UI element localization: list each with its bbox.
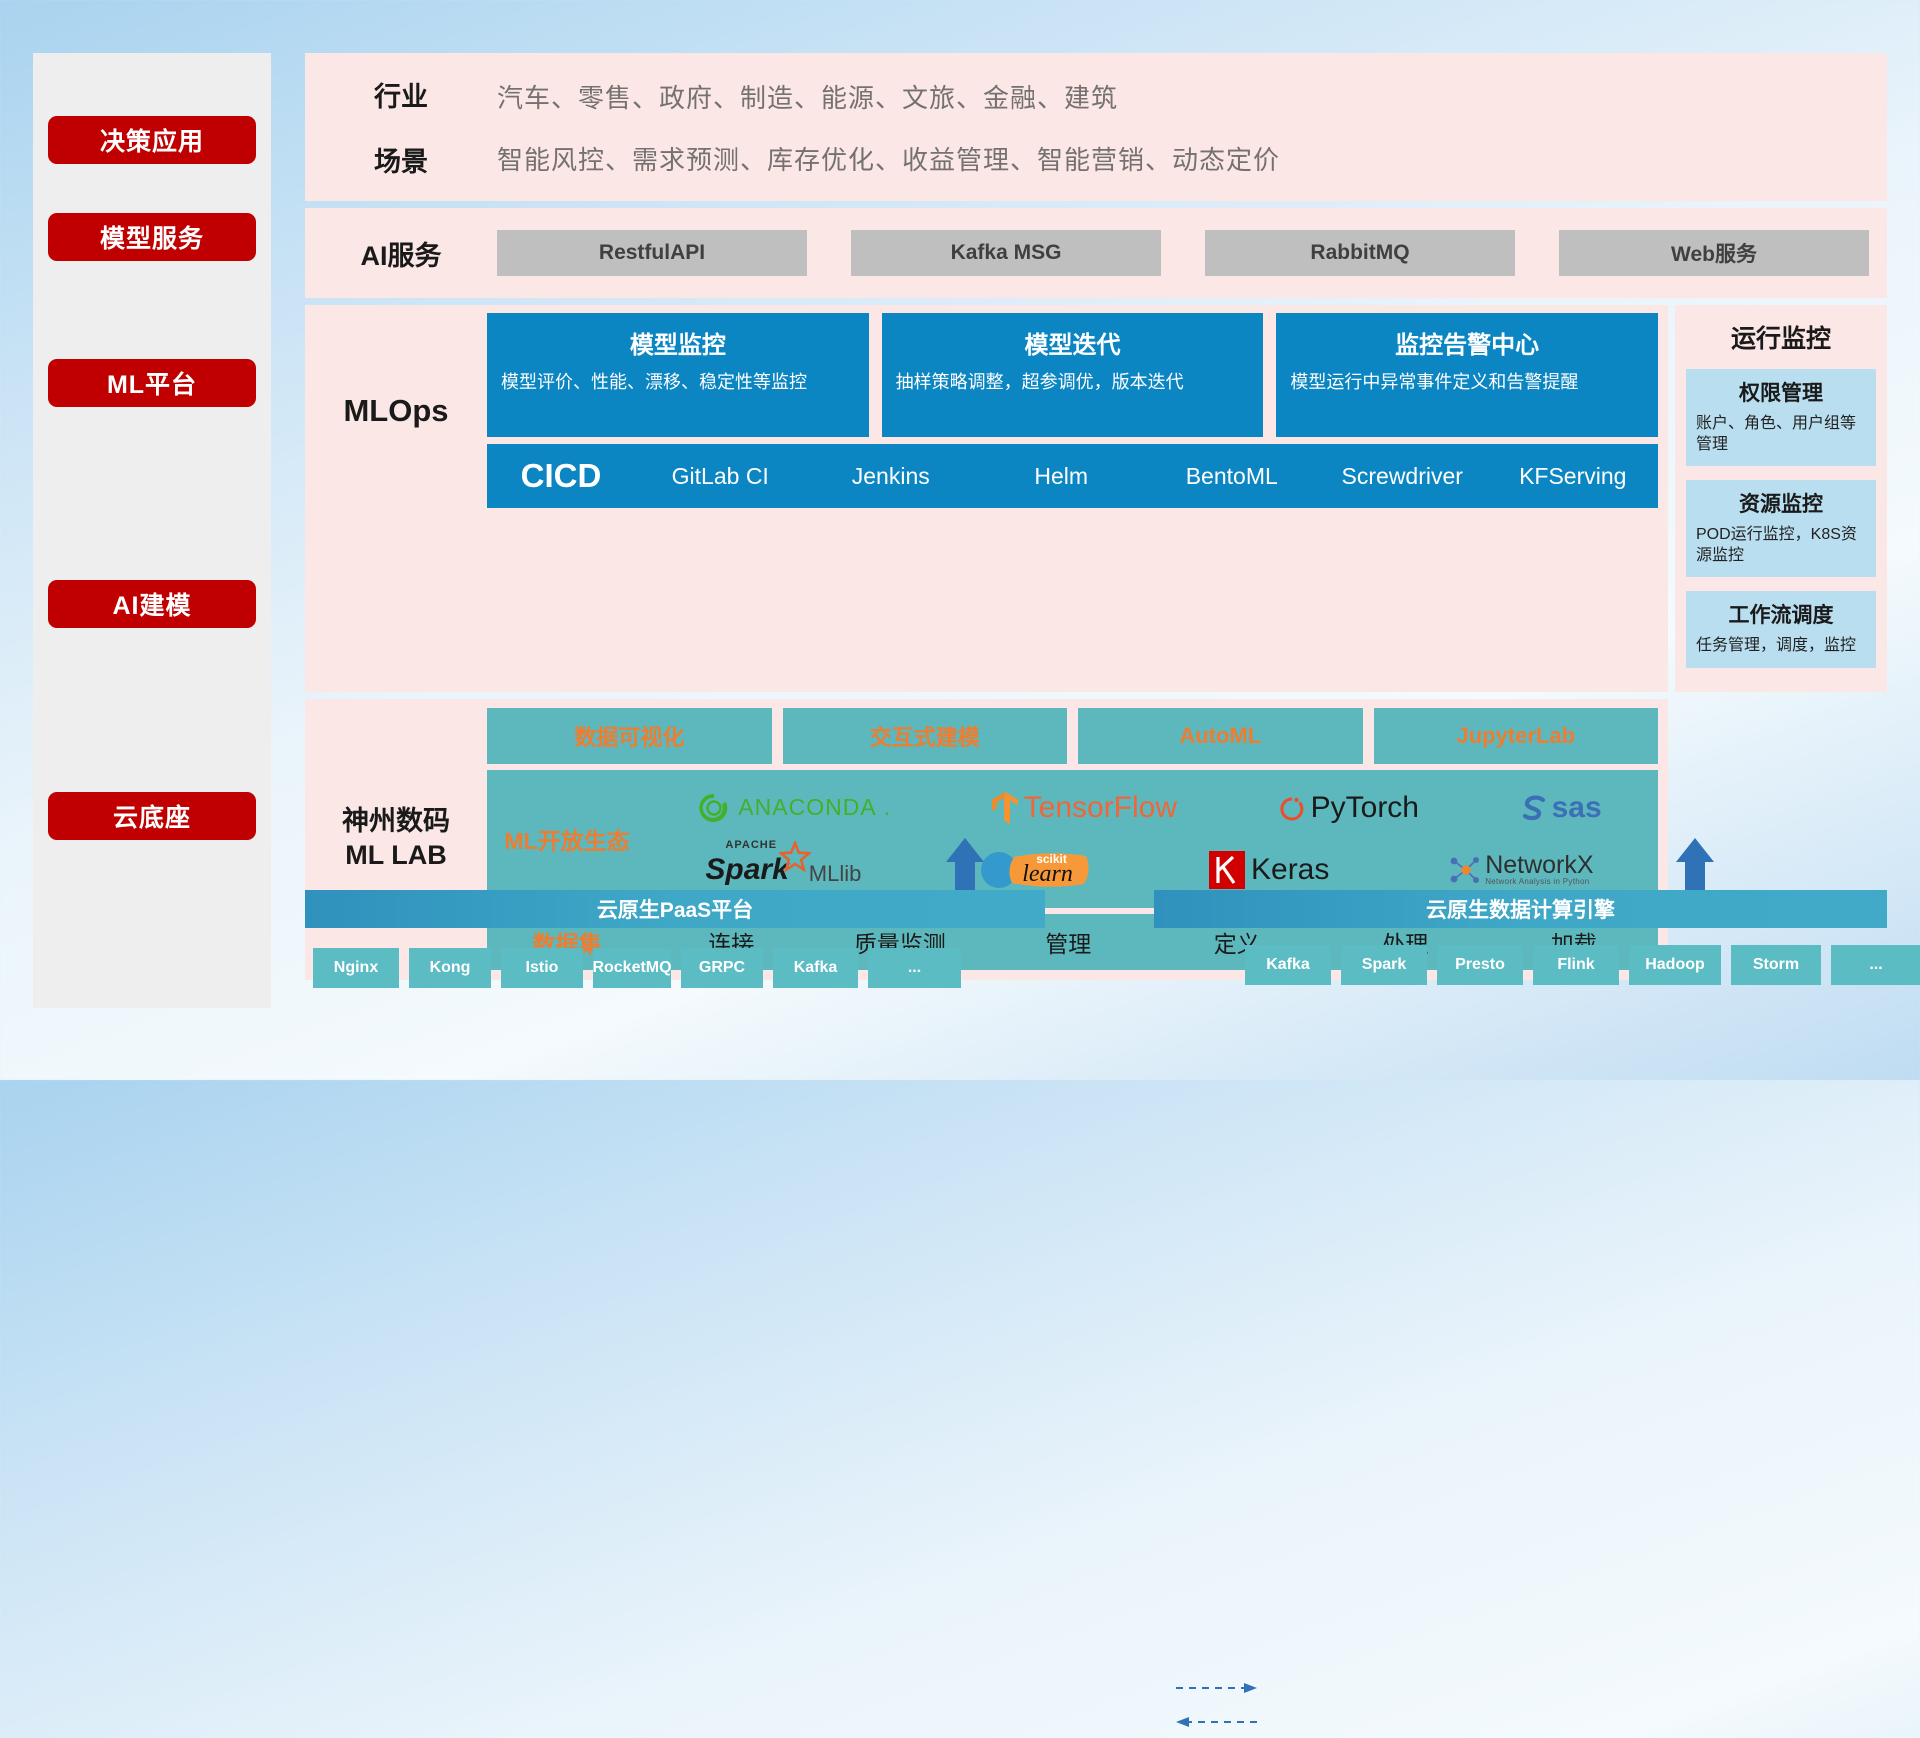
tool-box-automl[interactable]: AutoML xyxy=(1078,708,1363,764)
spark-mllib-logo: APACHE Spark MLlib xyxy=(705,853,861,887)
monitor-card-title: 资源监控 xyxy=(1696,488,1866,518)
networkx-sub-label: Network Analysis in Python xyxy=(1485,878,1593,886)
mlops-card-alert-center[interactable]: 监控告警中心 模型运行中异常事件定义和告警提醒 xyxy=(1276,313,1658,437)
diagram-root: 决策应用 模型服务 ML平台 AI建模 云底座 行业 场景 汽车、零售、政府、制… xyxy=(0,0,1920,1080)
scikit-learn-logo: scikit learn xyxy=(978,851,1092,889)
spark-label: Spark xyxy=(705,853,788,886)
tag-rocketmq[interactable]: RocketMQ xyxy=(593,948,671,988)
pytorch-label: PyTorch xyxy=(1311,791,1419,825)
cicd-item-screwdriver[interactable]: Screwdriver xyxy=(1317,464,1488,489)
cicd-item-kfserving[interactable]: KFServing xyxy=(1488,464,1659,489)
service-box-kafka-msg[interactable]: Kafka MSG xyxy=(851,230,1161,276)
mlops-card-desc: 模型运行中异常事件定义和告警提醒 xyxy=(1290,370,1644,394)
monitor-card-title: 工作流调度 xyxy=(1696,599,1866,629)
service-box-restfulapi[interactable]: RestfulAPI xyxy=(497,230,807,276)
mlops-card-model-monitoring[interactable]: 模型监控 模型评价、性能、漂移、稳定性等监控 xyxy=(487,313,869,437)
cloud-base-section: 云原生PaaS平台 云原生数据计算引擎 Nginx Kong Istio Roc… xyxy=(305,890,1887,1040)
sas-label: sas xyxy=(1552,791,1602,825)
anaconda-icon xyxy=(697,791,731,825)
label-scenario: 场景 xyxy=(305,140,497,179)
pytorch-logo: PyTorch xyxy=(1278,791,1419,825)
left-arrow-head xyxy=(946,838,984,862)
pytorch-icon xyxy=(1278,792,1306,824)
band-industry-labels: 行业 场景 xyxy=(305,75,497,179)
tool-box-data-visualization[interactable]: 数据可视化 xyxy=(487,708,772,764)
cloud-native-paas-bar[interactable]: 云原生PaaS平台 xyxy=(305,890,1045,928)
networkx-icon xyxy=(1446,853,1480,887)
rail-item-cloud-base[interactable]: 云底座 xyxy=(48,792,256,840)
rail-item-model-service[interactable]: 模型服务 xyxy=(48,213,256,261)
band-industry-values: 汽车、零售、政府、制造、能源、文旅、金融、建筑 智能风控、需求预测、库存优化、收… xyxy=(497,78,1280,177)
band-ai-service: AI服务 RestfulAPI Kafka MSG RabbitMQ Web服务 xyxy=(305,208,1887,298)
tag-grpc[interactable]: GRPC xyxy=(681,948,763,988)
cicd-title: CICD xyxy=(487,457,635,495)
ai-service-boxes: RestfulAPI Kafka MSG RabbitMQ Web服务 xyxy=(497,230,1887,276)
keras-logo: Keras xyxy=(1209,851,1329,889)
right-arrow-stem xyxy=(1685,858,1705,892)
tag-spark[interactable]: Spark xyxy=(1341,945,1427,985)
cicd-item-jenkins[interactable]: Jenkins xyxy=(806,464,977,489)
ml-ecosystem-row: ML开放生态 ANACONDA xyxy=(487,770,1658,908)
monitor-card-workflow[interactable]: 工作流调度 任务管理，调度，监控 xyxy=(1686,591,1876,667)
tag-storm[interactable]: Storm xyxy=(1731,945,1821,985)
rail-item-decision-app[interactable]: 决策应用 xyxy=(48,116,256,164)
band-mlops-row: MLOps 模型监控 模型评价、性能、漂移、稳定性等监控 模型迭代 抽样策略调整… xyxy=(305,305,1887,692)
monitor-card-desc: POD运行监控，K8S资源监控 xyxy=(1696,524,1866,566)
networkx-logo: NetworkX Network Analysis in Python xyxy=(1446,853,1593,887)
band-mlops: MLOps 模型监控 模型评价、性能、漂移、稳定性等监控 模型迭代 抽样策略调整… xyxy=(305,305,1668,692)
tag-nginx[interactable]: Nginx xyxy=(313,948,399,988)
data-engine-tag-row: Kafka Spark Presto Flink Hadoop Storm ..… xyxy=(1245,945,1920,985)
service-box-web[interactable]: Web服务 xyxy=(1559,230,1869,276)
tag-more-right[interactable]: ... xyxy=(1831,945,1920,985)
anaconda-label: ANACONDA xyxy=(738,794,876,821)
monitor-card-title: 权限管理 xyxy=(1696,377,1866,407)
monitor-card-desc: 账户、角色、用户组等管理 xyxy=(1696,413,1866,455)
tag-hadoop[interactable]: Hadoop xyxy=(1629,945,1721,985)
bidirectional-dashed-arrows xyxy=(1174,1676,1259,1738)
service-box-rabbitmq[interactable]: RabbitMQ xyxy=(1205,230,1515,276)
tool-box-jupyterlab[interactable]: JupyterLab xyxy=(1374,708,1659,764)
mlops-card-title: 模型监控 xyxy=(501,325,855,360)
keras-icon xyxy=(1209,851,1245,889)
tag-kafka-right[interactable]: Kafka xyxy=(1245,945,1331,985)
sas-logo: sas xyxy=(1520,791,1602,825)
monitor-card-permission[interactable]: 权限管理 账户、角色、用户组等管理 xyxy=(1686,369,1876,466)
monitor-card-resource[interactable]: 资源监控 POD运行监控，K8S资源监控 xyxy=(1686,480,1876,577)
tensorflow-logo: TensorFlow xyxy=(991,791,1177,825)
label-ml-lab-line2: ML LAB xyxy=(345,840,447,870)
tag-flink[interactable]: Flink xyxy=(1533,945,1619,985)
scikit-learn-label: learn xyxy=(1022,861,1073,888)
logo-line-1: ANACONDA . xyxy=(647,778,1652,838)
cicd-item-helm[interactable]: Helm xyxy=(976,464,1147,489)
mlops-card-desc: 抽样策略调整，超参调优，版本迭代 xyxy=(896,370,1250,394)
label-ai-service: AI服务 xyxy=(305,234,497,273)
spark-star-icon xyxy=(779,841,811,873)
keras-label: Keras xyxy=(1251,853,1329,887)
sas-icon xyxy=(1520,792,1550,824)
right-arrow-head xyxy=(1676,838,1714,862)
monitor-card-desc: 任务管理，调度，监控 xyxy=(1696,635,1866,656)
tag-istio[interactable]: Istio xyxy=(501,948,583,988)
tag-kong[interactable]: Kong xyxy=(409,948,491,988)
monitoring-title: 运行监控 xyxy=(1686,319,1876,355)
mlops-card-model-iteration[interactable]: 模型迭代 抽样策略调整，超参调优，版本迭代 xyxy=(882,313,1264,437)
tensorflow-icon xyxy=(991,791,1019,825)
spark-apache-label: APACHE xyxy=(725,839,777,851)
tool-box-interactive-modeling[interactable]: 交互式建模 xyxy=(783,708,1068,764)
label-industry: 行业 xyxy=(305,75,497,114)
left-arrow-stem xyxy=(955,858,975,892)
tag-presto[interactable]: Presto xyxy=(1437,945,1523,985)
anaconda-logo: ANACONDA . xyxy=(697,791,890,825)
main-column: 行业 场景 汽车、零售、政府、制造、能源、文旅、金融、建筑 智能风控、需求预测、… xyxy=(305,53,1887,980)
monitoring-column: 运行监控 权限管理 账户、角色、用户组等管理 资源监控 POD运行监控，K8S资… xyxy=(1675,305,1887,692)
mlops-cards: 模型监控 模型评价、性能、漂移、稳定性等监控 模型迭代 抽样策略调整，超参调优，… xyxy=(487,313,1658,437)
label-ml-ecosystem: ML开放生态 xyxy=(487,822,647,856)
networkx-label: NetworkX xyxy=(1485,853,1593,878)
rail-item-ai-modeling[interactable]: AI建模 xyxy=(48,580,256,628)
tag-kafka[interactable]: Kafka xyxy=(773,948,858,988)
paas-tag-row: Nginx Kong Istio RocketMQ GRPC Kafka ... xyxy=(313,948,961,988)
cicd-item-gitlab-ci[interactable]: GitLab CI xyxy=(635,464,806,489)
band-industry-scenario: 行业 场景 汽车、零售、政府、制造、能源、文旅、金融、建筑 智能风控、需求预测、… xyxy=(305,53,1887,201)
left-rail: 决策应用 模型服务 ML平台 AI建模 云底座 xyxy=(33,53,271,1008)
label-mlops: MLOps xyxy=(305,313,487,508)
value-industry: 汽车、零售、政府、制造、能源、文旅、金融、建筑 xyxy=(497,78,1280,115)
cloud-native-data-engine-bar[interactable]: 云原生数据计算引擎 xyxy=(1154,890,1887,928)
tag-more-left[interactable]: ... xyxy=(868,948,961,988)
mlops-card-title: 模型迭代 xyxy=(896,325,1250,360)
mlops-card-title: 监控告警中心 xyxy=(1290,325,1644,360)
cicd-row: CICD GitLab CI Jenkins Helm BentoML Scre… xyxy=(487,444,1658,508)
tensorflow-label: TensorFlow xyxy=(1024,791,1177,825)
lab-tool-row: 数据可视化 交互式建模 AutoML JupyterLab xyxy=(487,708,1658,764)
cicd-item-bentoml[interactable]: BentoML xyxy=(1147,464,1318,489)
rail-item-ml-platform[interactable]: ML平台 xyxy=(48,359,256,407)
mllib-label: MLlib xyxy=(809,861,862,887)
value-scenario: 智能风控、需求预测、库存优化、收益管理、智能营销、动态定价 xyxy=(497,140,1280,177)
mlops-card-desc: 模型评价、性能、漂移、稳定性等监控 xyxy=(501,370,855,394)
label-ml-lab-line1: 神州数码 xyxy=(342,806,450,836)
